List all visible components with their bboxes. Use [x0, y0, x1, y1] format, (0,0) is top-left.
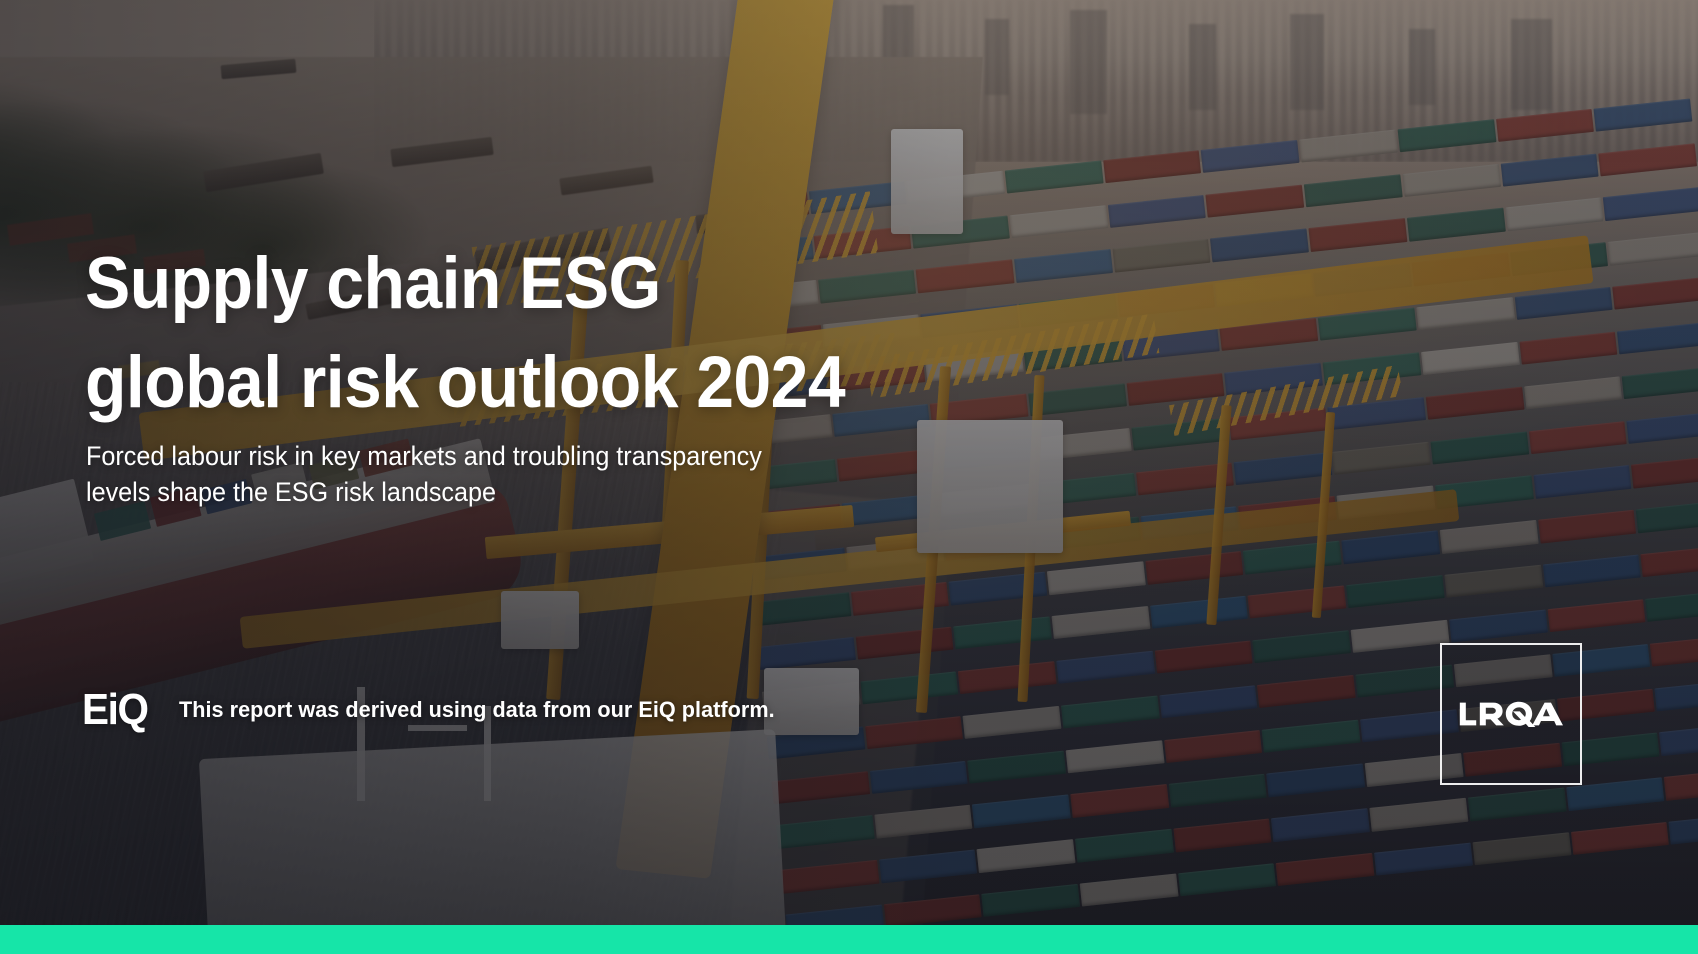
lrqa-logo-icon [1459, 701, 1563, 727]
page-title: Supply chain ESG global risk outlook 202… [85, 234, 1071, 432]
lrqa-logo-box [1440, 643, 1582, 785]
eiq-credit-row: EiQ This report was derived using data f… [82, 688, 800, 732]
cover-content: Supply chain ESG global risk outlook 202… [0, 0, 1698, 954]
eiq-logo: EiQ [82, 688, 148, 732]
page-subtitle: Forced labour risk in key markets and tr… [86, 438, 922, 510]
report-cover: Supply chain ESG global risk outlook 202… [0, 0, 1698, 954]
accent-bar [0, 925, 1698, 954]
eiq-credit-text: This report was derived using data from … [179, 697, 775, 723]
